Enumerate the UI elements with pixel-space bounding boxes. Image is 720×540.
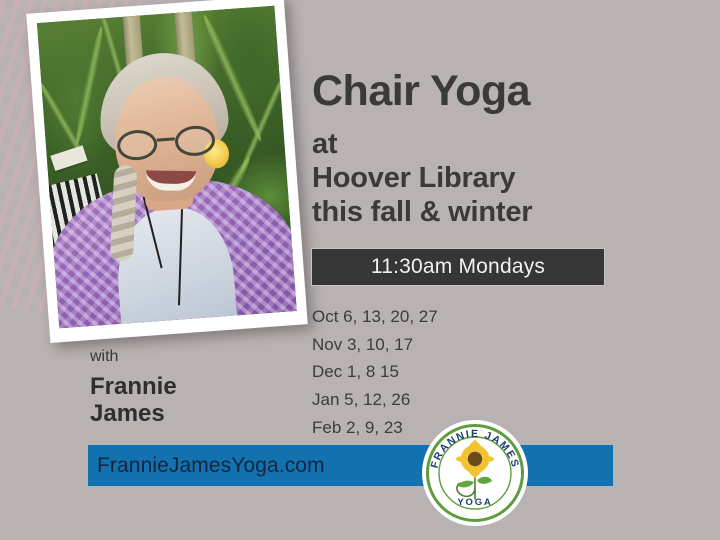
schedule-date-row: Jan 5, 12, 26 bbox=[312, 386, 438, 414]
with-label: with bbox=[90, 348, 118, 366]
hair-braid bbox=[110, 165, 138, 262]
presenter-last-name: James bbox=[90, 400, 177, 427]
frannie-james-yoga-logo: FRANNIE JAMES YO bbox=[421, 419, 529, 527]
schedule-date-row: Oct 6, 13, 20, 27 bbox=[312, 303, 438, 331]
schedule-date-row: Feb 2, 9, 23 bbox=[312, 414, 438, 442]
presenter-photo-frame bbox=[26, 0, 307, 343]
time-banner: 11:30am Mondays bbox=[311, 248, 605, 286]
logo-svg: FRANNIE JAMES YO bbox=[421, 419, 529, 527]
subtitle-block: at Hoover Library this fall & winter bbox=[312, 128, 532, 230]
presenter-name: Frannie James bbox=[90, 373, 177, 427]
logo-bottom-text: YOGA bbox=[457, 497, 492, 508]
time-banner-text: 11:30am Mondays bbox=[371, 255, 545, 279]
person-figure bbox=[42, 73, 297, 328]
presenter-first-name: Frannie bbox=[90, 373, 177, 400]
subtitle-venue: Hoover Library bbox=[312, 162, 532, 196]
website-url-bar[interactable]: FrannieJamesYoga.com bbox=[88, 445, 613, 486]
schedule-date-row: Dec 1, 8 15 bbox=[312, 358, 438, 386]
presenter-photo bbox=[37, 6, 297, 329]
poster-canvas: Chair Yoga at Hoover Library this fall &… bbox=[0, 0, 720, 540]
schedule-date-row: Nov 3, 10, 17 bbox=[312, 331, 438, 359]
schedule-date-list: Oct 6, 13, 20, 27 Nov 3, 10, 17 Dec 1, 8… bbox=[312, 303, 438, 442]
website-url-text: FrannieJamesYoga.com bbox=[88, 454, 325, 478]
subtitle-season: this fall & winter bbox=[312, 196, 532, 230]
sunflower-center bbox=[468, 452, 482, 466]
page-title: Chair Yoga bbox=[312, 70, 530, 113]
subtitle-at: at bbox=[312, 128, 532, 162]
